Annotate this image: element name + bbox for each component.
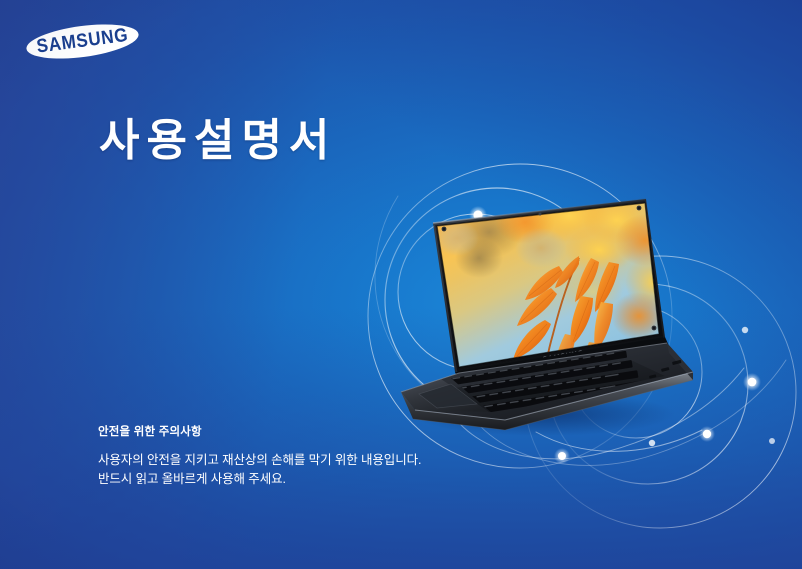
background-vignette <box>0 0 802 569</box>
manual-cover-page: SAMSUNG <box>0 0 802 569</box>
